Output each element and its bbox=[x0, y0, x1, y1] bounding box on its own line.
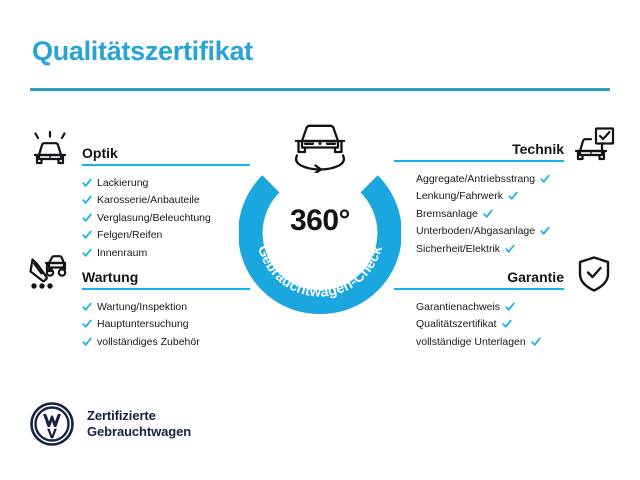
list-item-label: Felgen/Reifen bbox=[97, 230, 162, 241]
section-optik-underline bbox=[82, 164, 250, 167]
certificate-page: Qualitätszertifikat Optik bbox=[0, 0, 640, 480]
check-icon bbox=[540, 226, 550, 236]
car-checkbox-icon bbox=[572, 127, 616, 167]
footer-brand-text: Zertifizierte Gebrauchtwagen bbox=[87, 408, 191, 440]
shield-check-icon bbox=[572, 255, 616, 295]
check-icon bbox=[82, 230, 92, 240]
section-garantie-header: Garantie bbox=[416, 256, 616, 292]
list-item: Bremsanlage bbox=[416, 205, 616, 223]
list-item: Lenkung/Fahrwerk bbox=[416, 188, 616, 206]
list-item-label: Unterboden/Abgasanlage bbox=[416, 226, 535, 237]
list-item: Lackierung bbox=[28, 174, 228, 192]
check-icon bbox=[82, 178, 92, 188]
list-item: Unterboden/Abgasanlage bbox=[416, 223, 616, 241]
section-wartung: Wartung Wartung/Inspektion Hauptuntersuc… bbox=[28, 256, 228, 351]
section-optik: Optik Lackierung Karosserie/Anbauteile bbox=[28, 132, 228, 262]
section-technik-title: Technik bbox=[512, 141, 564, 157]
footer-brand: Zertifizierte Gebrauchtwagen bbox=[30, 402, 191, 446]
list-item: vollständige Unterlagen bbox=[416, 333, 616, 351]
list-item-label: Karosserie/Anbauteile bbox=[97, 195, 200, 206]
section-wartung-title: Wartung bbox=[82, 269, 138, 285]
section-garantie-underline bbox=[394, 288, 564, 291]
list-item: Qualitätszertifikat bbox=[416, 316, 616, 334]
list-item: Hauptuntersuchung bbox=[28, 316, 228, 334]
list-item: Felgen/Reifen bbox=[28, 227, 228, 245]
car-shine-icon bbox=[28, 131, 72, 171]
volkswagen-logo bbox=[30, 402, 74, 446]
list-item: vollständiges Zubehör bbox=[28, 333, 228, 351]
list-item-label: Hauptuntersuchung bbox=[97, 319, 189, 330]
list-item-label: Sicherheit/Elektrik bbox=[416, 244, 500, 255]
list-item-label: vollständige Unterlagen bbox=[416, 337, 526, 348]
badge-360-gebrauchtwagen-check: Gebrauchtwagen-Check 360° bbox=[239, 152, 401, 314]
check-icon bbox=[82, 213, 92, 223]
header-divider bbox=[30, 88, 610, 91]
section-wartung-underline bbox=[82, 288, 250, 291]
footer-line-2: Gebrauchtwagen bbox=[87, 424, 191, 439]
list-item: Garantienachweis bbox=[416, 298, 616, 316]
check-icon bbox=[82, 337, 92, 347]
check-icon bbox=[505, 244, 515, 254]
check-icon bbox=[531, 337, 541, 347]
car-wrench-icon bbox=[28, 255, 72, 295]
list-item-label: Garantienachweis bbox=[416, 302, 500, 313]
section-garantie-title: Garantie bbox=[507, 269, 564, 285]
list-item: Aggregate/Antriebsstrang bbox=[416, 170, 616, 188]
page-title: Qualitätszertifikat bbox=[32, 36, 253, 67]
list-item-label: Lackierung bbox=[97, 178, 148, 189]
section-optik-title: Optik bbox=[82, 145, 118, 161]
check-icon bbox=[508, 191, 518, 201]
section-optik-header: Optik bbox=[28, 132, 228, 168]
check-icon bbox=[82, 302, 92, 312]
car-rotation-icon bbox=[285, 119, 355, 173]
section-wartung-header: Wartung bbox=[28, 256, 228, 292]
list-item: Verglasung/Beleuchtung bbox=[28, 209, 228, 227]
check-icon bbox=[505, 302, 515, 312]
check-icon bbox=[82, 195, 92, 205]
section-technik-header: Technik bbox=[416, 128, 616, 164]
list-item: Karosserie/Anbauteile bbox=[28, 192, 228, 210]
check-icon bbox=[540, 174, 550, 184]
list-item-label: Bremsanlage bbox=[416, 209, 478, 220]
section-garantie-list: Garantienachweis Qualitätszertifikat vol… bbox=[416, 298, 616, 351]
list-item: Wartung/Inspektion bbox=[28, 298, 228, 316]
check-icon bbox=[82, 319, 92, 329]
section-technik: Technik Aggregate/Antriebsstrang Lenkung… bbox=[416, 128, 616, 258]
section-technik-list: Aggregate/Antriebsstrang Lenkung/Fahrwer… bbox=[416, 170, 616, 258]
section-optik-list: Lackierung Karosserie/Anbauteile Verglas… bbox=[28, 174, 228, 262]
list-item-label: vollständiges Zubehör bbox=[97, 337, 200, 348]
footer-line-1: Zertifizierte bbox=[87, 408, 156, 423]
section-garantie: Garantie Garantienachweis Qualitätszerti… bbox=[416, 256, 616, 351]
section-technik-underline bbox=[394, 160, 564, 163]
list-item-label: Verglasung/Beleuchtung bbox=[97, 213, 211, 224]
badge-value: 360° bbox=[239, 204, 401, 238]
list-item-label: Qualitätszertifikat bbox=[416, 319, 497, 330]
list-item-label: Wartung/Inspektion bbox=[97, 302, 187, 313]
check-icon bbox=[483, 209, 493, 219]
list-item-label: Aggregate/Antriebsstrang bbox=[416, 174, 535, 185]
check-icon bbox=[502, 319, 512, 329]
section-wartung-list: Wartung/Inspektion Hauptuntersuchung vol… bbox=[28, 298, 228, 351]
list-item-label: Lenkung/Fahrwerk bbox=[416, 191, 503, 202]
